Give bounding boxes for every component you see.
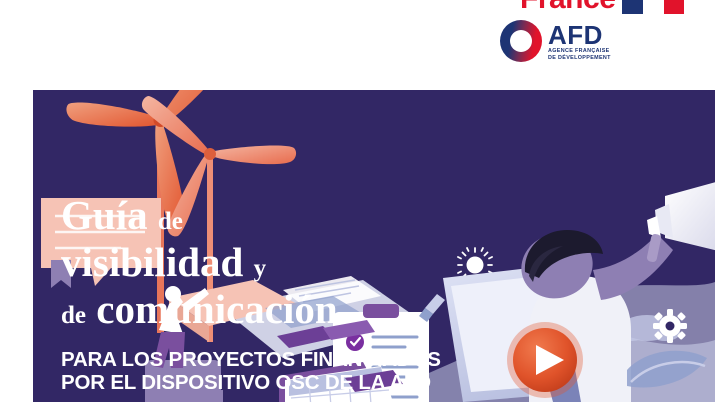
banner-title: Guía de visibilidad y de comunicación <box>61 195 338 330</box>
title-y: y <box>254 255 267 282</box>
title-line-1: Guía de <box>61 195 338 235</box>
title-comunicacion: comunicación <box>96 286 337 332</box>
subtitle-line-2: POR EL DISPOSITIVO OSC DE LA AFD <box>61 371 441 394</box>
title-line-3: de comunicación <box>61 289 338 329</box>
header-logo-area: France AFD AGENCE FRANÇAISE DE DÉVELOPPE… <box>0 0 715 90</box>
title-guia: Guía <box>61 192 148 238</box>
afd-ring-icon <box>500 20 542 62</box>
subtitle-line-1: PARA LOS PROYECTOS FINANCIADOS <box>61 348 441 371</box>
play-button-icon <box>507 322 583 398</box>
banner-subtitle: PARA LOS PROYECTOS FINANCIADOS POR EL DI… <box>61 348 441 394</box>
pen-icon <box>419 294 445 322</box>
title-de-1: de <box>158 208 183 235</box>
afd-logo: AFD AGENCE FRANÇAISE DE DÉVELOPPEMENT <box>500 20 611 62</box>
title-line-2: visibilidad y <box>61 242 338 282</box>
cover-banner: Guía de visibilidad y de comunicación PA… <box>33 90 715 402</box>
megaphone-icon <box>646 180 715 263</box>
afd-subtitle-line-2: DE DÉVELOPPEMENT <box>548 55 611 61</box>
screenshot-root: France AFD AGENCE FRANÇAISE DE DÉVELOPPE… <box>0 0 715 402</box>
afd-wordmark-block: AFD AGENCE FRANÇAISE DE DÉVELOPPEMENT <box>548 21 611 61</box>
afd-acronym: AFD <box>548 23 611 48</box>
french-flag-icon <box>622 0 684 14</box>
france-wordmark: France <box>520 0 615 14</box>
france-brand-mark: France <box>520 0 695 14</box>
title-de-2: de <box>61 302 86 329</box>
title-visibilidad: visibilidad <box>61 239 243 285</box>
gear-icon <box>653 309 687 343</box>
